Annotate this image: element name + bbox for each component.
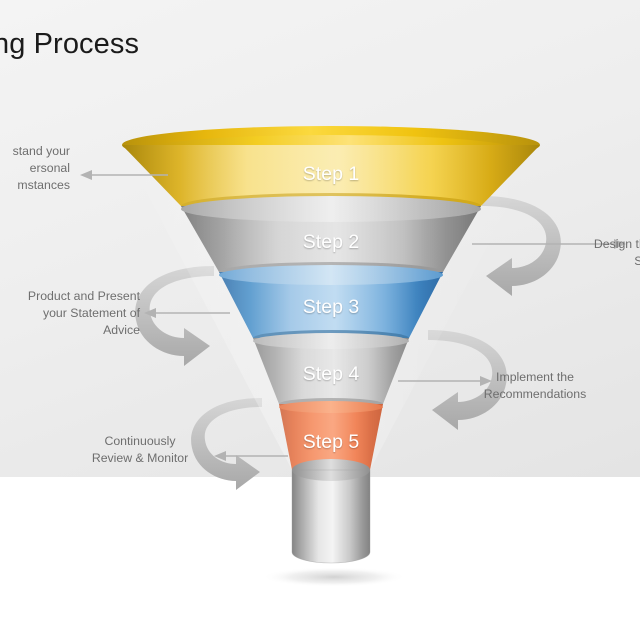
funnel-sheen xyxy=(122,145,540,470)
funnel-drop-shadow xyxy=(262,567,406,587)
connector-arrow-step-5-left xyxy=(214,451,288,461)
callout-step-2: Design the Fina Strategy xyxy=(520,236,640,270)
slide-canvas: nning Process xyxy=(0,0,640,640)
callout-step-4: Implement the Recommendations xyxy=(470,369,600,403)
callout-step-1: stand your ersonal mstances xyxy=(0,143,70,194)
callout-step-3: Product and Present your Statement of Ad… xyxy=(10,288,140,339)
funnel-neck-cylinder xyxy=(292,459,370,563)
callout-step-5: Continuously Review & Monitor xyxy=(75,433,205,467)
